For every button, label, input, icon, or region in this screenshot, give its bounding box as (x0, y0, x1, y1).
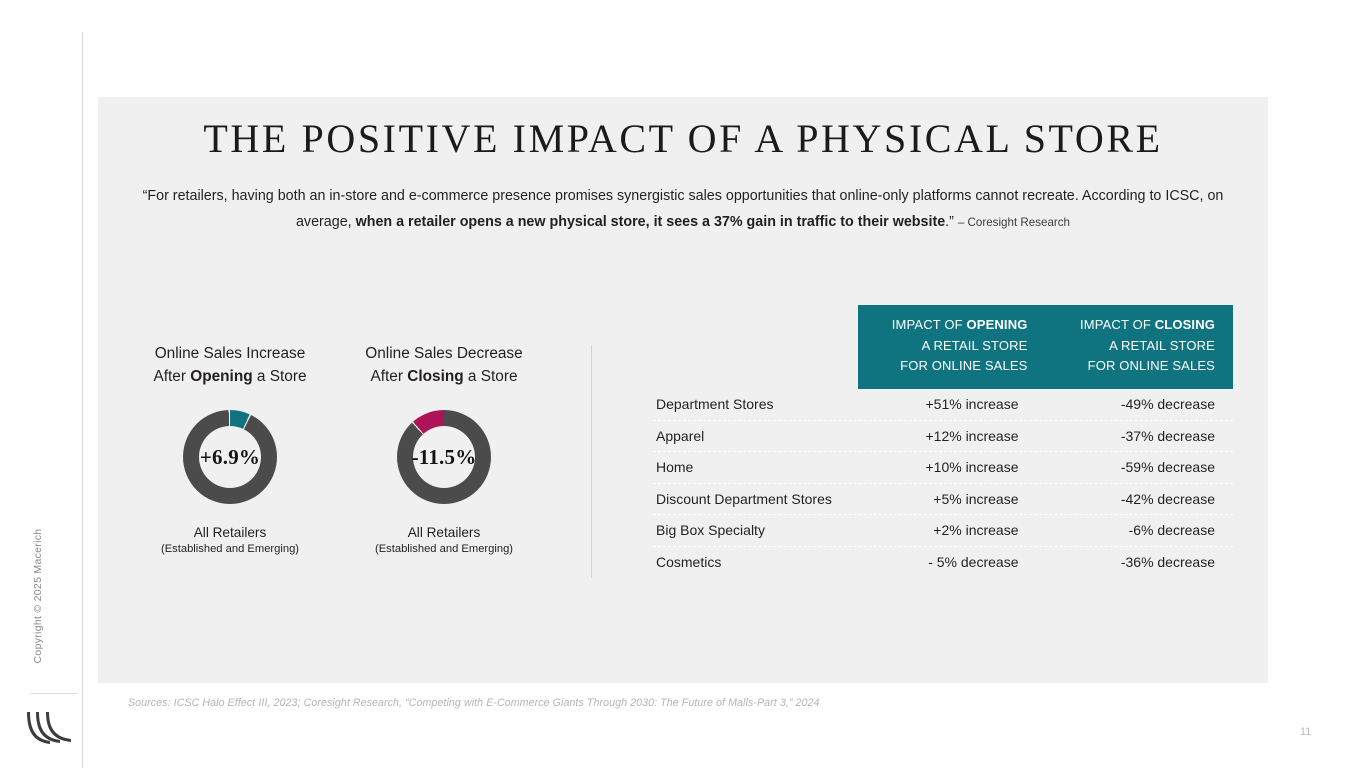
row-closing-value: -42% decrease (1055, 491, 1234, 507)
table-row: Big Box Specialty +2% increase -6% decre… (653, 515, 1233, 547)
table-row: Department Stores +51% increase -49% dec… (653, 389, 1233, 421)
donut-caption-closing: All Retailers (334, 524, 554, 541)
quote-block: “For retailers, having both an in-store … (130, 183, 1236, 236)
row-label: Cosmetics (653, 554, 858, 570)
header-line1-pre: IMPACT OF (1080, 317, 1155, 332)
row-opening-value: +2% increase (858, 522, 1055, 538)
page-title: THE POSITIVE IMPACT OF A PHYSICAL STORE (98, 115, 1268, 162)
donut-heading-line2-pre: After (153, 368, 190, 385)
section-divider (591, 345, 592, 578)
donut-subcaption-closing: (Established and Emerging) (334, 541, 554, 557)
table-row: Discount Department Stores +5% increase … (653, 484, 1233, 516)
donut-chart-opening: +6.9% (183, 410, 277, 504)
table-row: Apparel +12% increase -37% decrease (653, 421, 1233, 453)
table-header-opening: IMPACT OF OPENING A RETAIL STORE FOR ONL… (858, 315, 1046, 389)
donut-heading-opening: Online Sales Increase After Opening a St… (120, 342, 340, 388)
donut-center-opening: +6.9% (199, 426, 261, 488)
donut-heading-line2-bold: Opening (190, 368, 252, 385)
header-line1-bold: CLOSING (1155, 317, 1215, 332)
header-line2: A RETAIL STORE (922, 338, 1028, 353)
row-closing-value: -36% decrease (1055, 554, 1234, 570)
row-closing-value: -49% decrease (1055, 396, 1234, 412)
donut-chart-closing: -11.5% (397, 410, 491, 504)
row-label: Apparel (653, 428, 858, 444)
donut-heading-line2-post: a Store (464, 368, 518, 385)
row-opening-value: - 5% decrease (858, 554, 1055, 570)
sources-line: Sources: ICSC Halo Effect III, 2023; Cor… (128, 697, 820, 709)
donut-subcaption-opening: (Established and Emerging) (120, 541, 340, 557)
slide-content-panel: THE POSITIVE IMPACT OF A PHYSICAL STORE … (98, 97, 1268, 683)
row-closing-value: -37% decrease (1055, 428, 1234, 444)
header-line1-pre: IMPACT OF (892, 317, 967, 332)
table-row: Cosmetics - 5% decrease -36% decrease (653, 547, 1233, 578)
donut-card-closing: Online Sales Decrease After Closing a St… (334, 342, 554, 557)
donut-value-opening: +6.9% (200, 445, 260, 470)
quote-highlight: when a retailer opens a new physical sto… (356, 214, 946, 230)
rail-rule (30, 693, 78, 694)
row-opening-value: +12% increase (858, 428, 1055, 444)
table-header-closing: IMPACT OF CLOSING A RETAIL STORE FOR ONL… (1046, 315, 1216, 389)
table-body: Department Stores +51% increase -49% dec… (653, 389, 1233, 577)
table-header: IMPACT OF OPENING A RETAIL STORE FOR ONL… (858, 305, 1233, 389)
donut-heading-closing: Online Sales Decrease After Closing a St… (334, 342, 554, 388)
copyright-notice: Copyright © 2025 Macerich (32, 506, 44, 686)
row-opening-value: +10% increase (858, 459, 1055, 475)
donut-heading-line2-post: a Store (253, 368, 307, 385)
row-label: Home (653, 459, 858, 475)
quote-part-2: .” (945, 214, 958, 230)
donut-center-closing: -11.5% (413, 426, 475, 488)
quote-attribution: – Coresight Research (958, 216, 1070, 229)
donut-value-closing: -11.5% (412, 445, 477, 470)
donut-caption-opening: All Retailers (120, 524, 340, 541)
left-rail: Copyright © 2025 Macerich (0, 0, 98, 768)
row-label: Discount Department Stores (653, 491, 858, 507)
rail-divider-bottom (82, 690, 83, 768)
header-line3: FOR ONLINE SALES (1088, 358, 1215, 373)
macerich-logo-icon (26, 708, 78, 748)
table-row: Home +10% increase -59% decrease (653, 452, 1233, 484)
header-line2: A RETAIL STORE (1109, 338, 1215, 353)
donut-heading-line1: Online Sales Decrease (365, 345, 522, 362)
donut-heading-line2-bold: Closing (407, 368, 463, 385)
row-label: Department Stores (653, 396, 858, 412)
donut-card-opening: Online Sales Increase After Opening a St… (120, 342, 340, 557)
header-line3: FOR ONLINE SALES (900, 358, 1027, 373)
rail-divider-top (82, 32, 83, 690)
donut-heading-line2-pre: After (370, 368, 407, 385)
row-opening-value: +5% increase (858, 491, 1055, 507)
row-closing-value: -6% decrease (1055, 522, 1234, 538)
row-opening-value: +51% increase (858, 396, 1055, 412)
donut-heading-line1: Online Sales Increase (155, 345, 306, 362)
row-closing-value: -59% decrease (1055, 459, 1234, 475)
header-line1-bold: OPENING (966, 317, 1027, 332)
page-number: 11 (1300, 726, 1311, 738)
row-label: Big Box Specialty (653, 522, 858, 538)
